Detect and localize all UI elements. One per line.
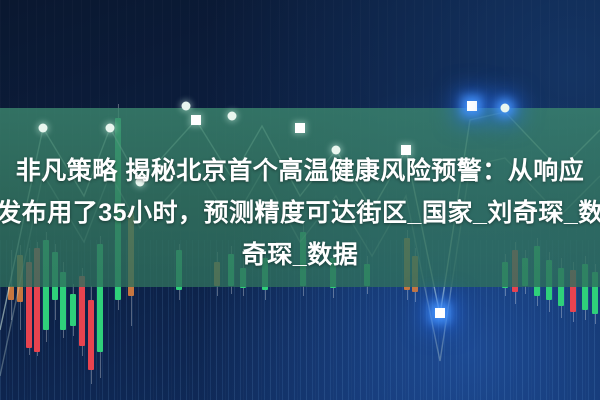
dot-marker bbox=[228, 112, 237, 121]
banner-image: 非凡策略 揭秘北京首个高温健康风险预警：从响应 发布用了35小时，预测精度可达街… bbox=[0, 0, 600, 400]
marker-shape bbox=[295, 123, 305, 133]
square-marker bbox=[191, 115, 201, 125]
dot-marker bbox=[501, 104, 510, 113]
marker-shape bbox=[39, 124, 48, 133]
square-marker bbox=[435, 308, 445, 318]
marker-shape bbox=[106, 124, 115, 133]
marker-shape bbox=[191, 115, 201, 125]
marker-shape bbox=[228, 112, 237, 121]
dot-marker bbox=[106, 124, 115, 133]
marker-shape bbox=[501, 104, 510, 113]
square-marker bbox=[467, 101, 477, 111]
marker-shape bbox=[182, 102, 191, 111]
marker-shape bbox=[435, 308, 445, 318]
headline-line-1: 非凡策略 揭秘北京首个高温健康风险预警：从响应 bbox=[0, 150, 600, 192]
square-marker bbox=[295, 123, 305, 133]
headline-line-2: 发布用了35小时，预测精度可达街区_国家_刘奇琛_数 bbox=[0, 192, 600, 234]
marker-shape bbox=[467, 101, 477, 111]
headline: 非凡策略 揭秘北京首个高温健康风险预警：从响应 发布用了35小时，预测精度可达街… bbox=[0, 150, 600, 276]
dot-marker bbox=[182, 102, 191, 111]
dot-marker bbox=[39, 124, 48, 133]
headline-line-3: 奇琛_数据 bbox=[0, 234, 600, 276]
